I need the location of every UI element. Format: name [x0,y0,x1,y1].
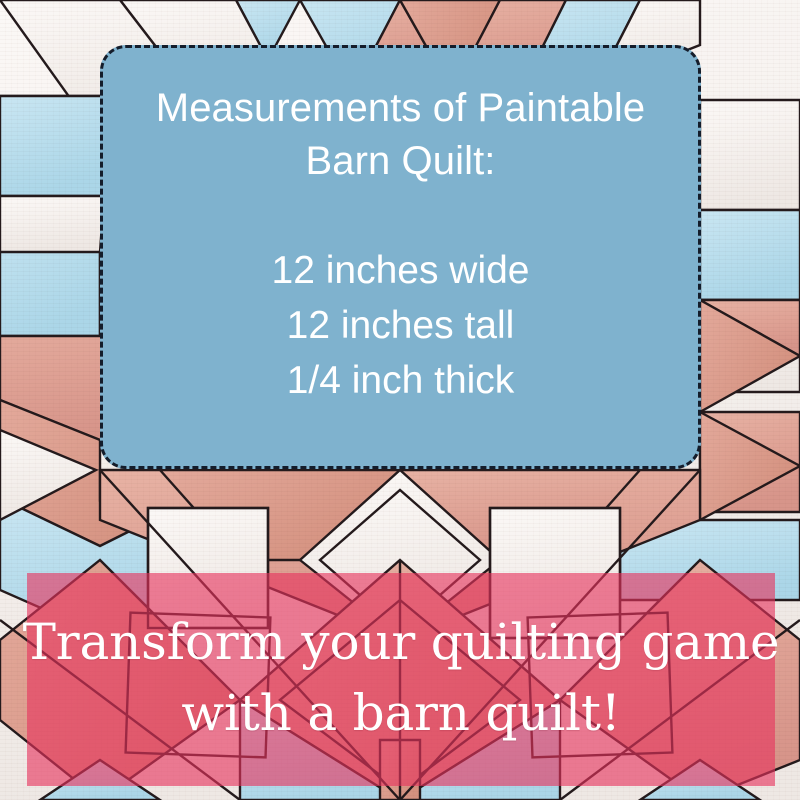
measurements-title-line-2: Barn Quilt: [305,139,495,183]
spec-height: 12 inches tall [287,299,515,352]
promo-line-1: Transform your quilting game [23,607,780,678]
product-graphic-canvas: Measurements of Paintable Barn Quilt: 12… [0,0,800,800]
promo-line-2: with a barn quilt! [181,678,620,749]
measurements-spec-list: 12 inches wide 12 inches tall 1/4 inch t… [272,244,530,407]
promo-banner: Transform your quilting game with a barn… [27,573,775,786]
measurements-title-line-1: Measurements of Paintable [156,86,645,130]
spec-thickness: 1/4 inch thick [287,354,515,407]
measurements-card: Measurements of Paintable Barn Quilt: 12… [100,45,701,469]
spec-width: 12 inches wide [272,244,530,297]
measurements-title: Measurements of Paintable Barn Quilt: [156,82,645,188]
